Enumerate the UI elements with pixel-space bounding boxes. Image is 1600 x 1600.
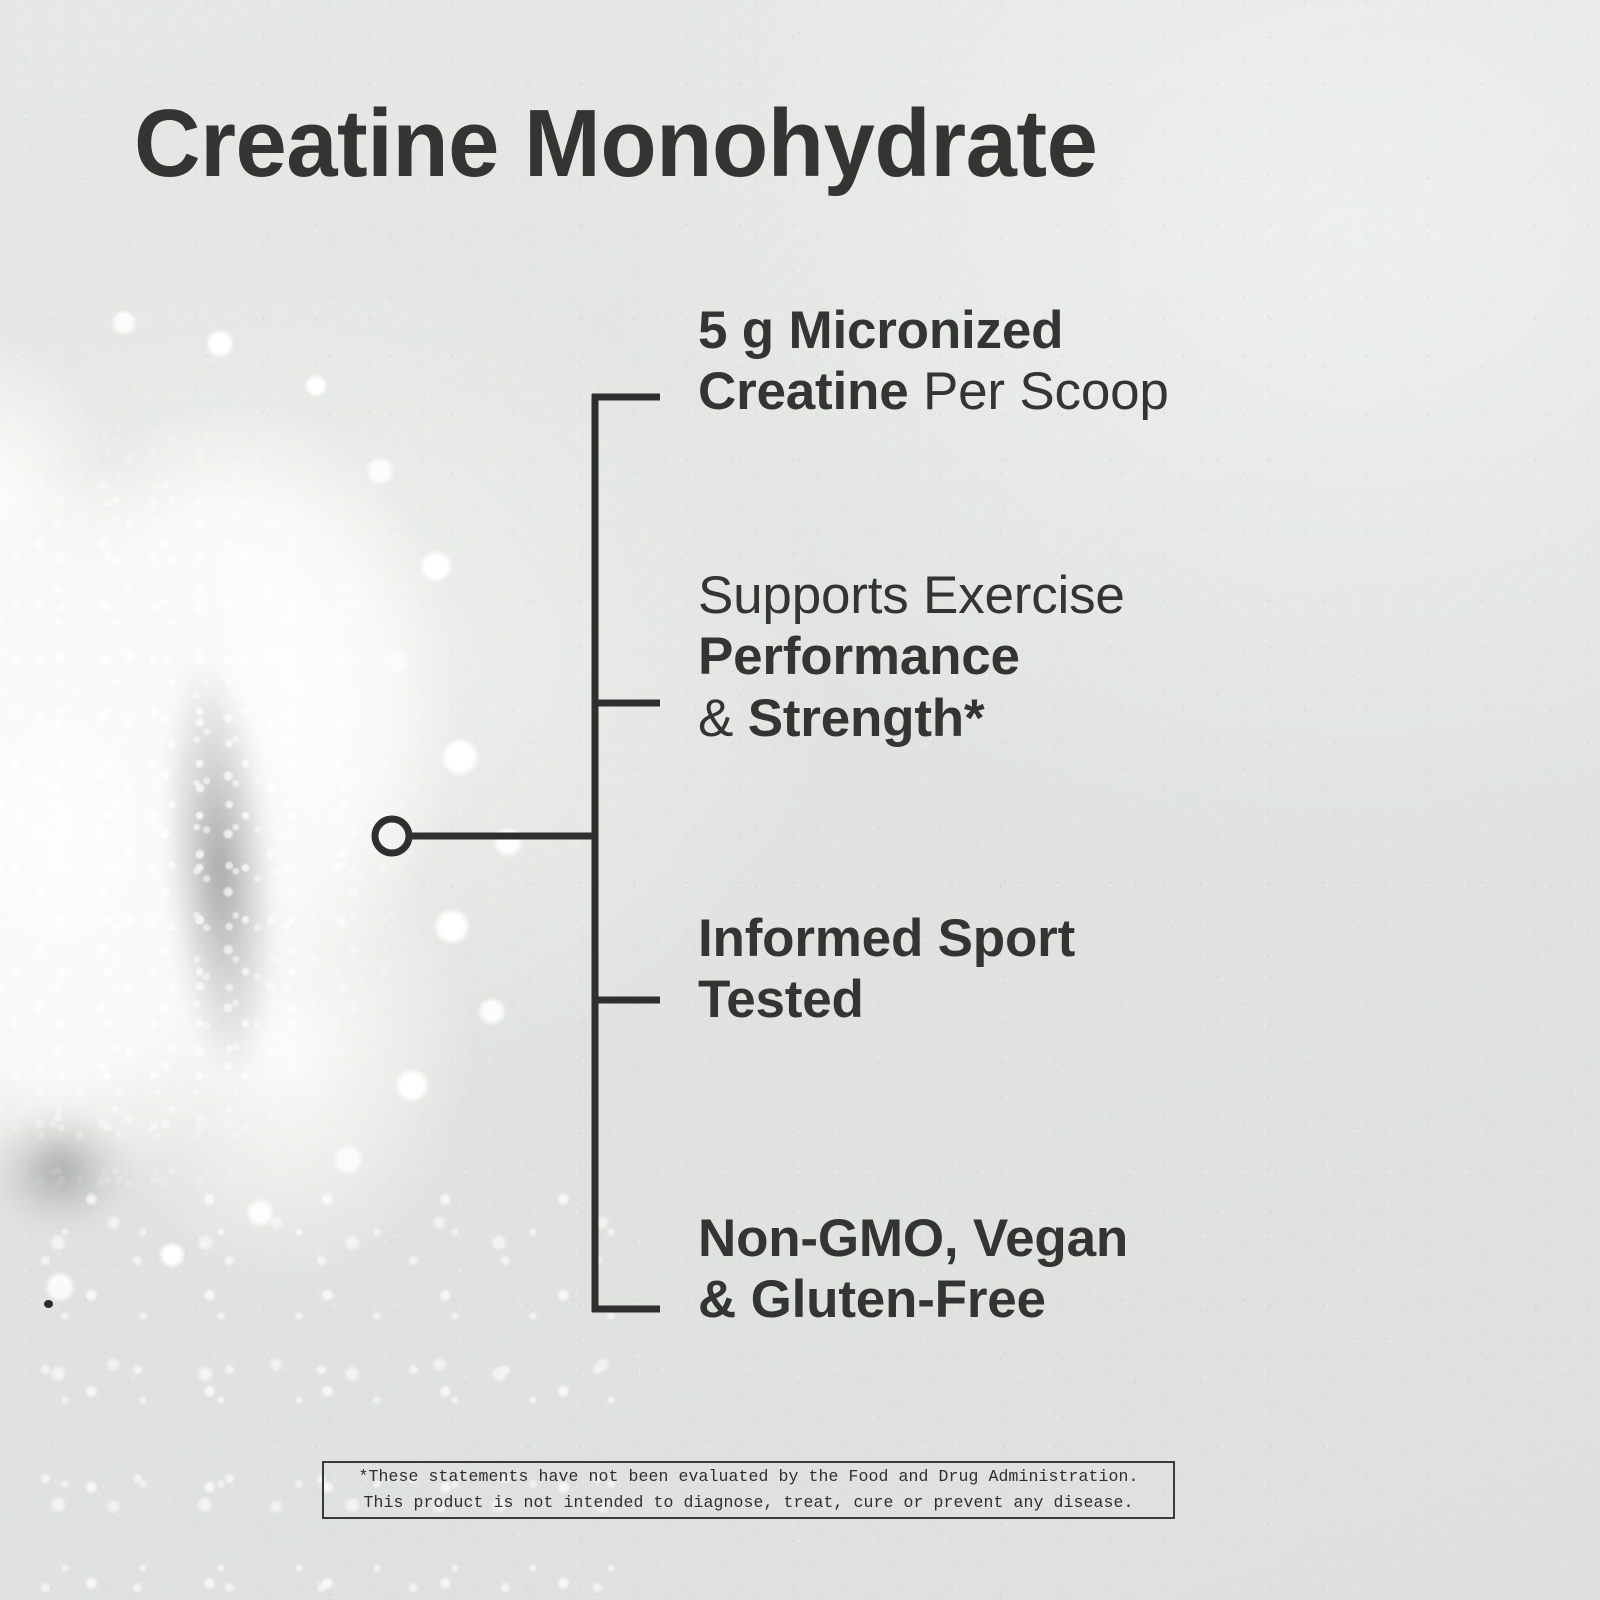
feature-text-bold: 5 g Micronized xyxy=(698,301,1063,360)
feature-creatine-per-scoop: 5 g Micronized Creatine Per Scoop xyxy=(698,300,1169,423)
page-title: Creatine Monohydrate xyxy=(134,96,1097,192)
feature-non-gmo-vegan-gluten-free: Non-GMO, Vegan & Gluten-Free xyxy=(698,1208,1128,1331)
feature-text-regular: Supports Exercise xyxy=(698,566,1125,625)
feature-text-bold: & Gluten-Free xyxy=(698,1270,1046,1329)
feature-line: Performance xyxy=(698,626,1125,687)
feature-text-bold: Informed Sport xyxy=(698,909,1075,968)
powder-scattered-specks xyxy=(0,1180,640,1600)
feature-informed-sport-tested: Informed Sport Tested xyxy=(698,908,1075,1031)
feature-line: & Gluten-Free xyxy=(698,1269,1128,1330)
product-infographic: Creatine Monohydrate 5 g Micronized Crea… xyxy=(0,0,1600,1600)
feature-text-bold: Tested xyxy=(698,970,864,1029)
feature-line: Supports Exercise xyxy=(698,565,1125,626)
fda-disclaimer-box: *These statements have not been evaluate… xyxy=(322,1461,1175,1519)
feature-line: Informed Sport xyxy=(698,908,1075,969)
disclaimer-line-one: *These statements have not been evaluate… xyxy=(324,1464,1173,1490)
feature-text-bold: Strength* xyxy=(748,689,985,748)
disclaimer-line-two: This product is not intended to diagnose… xyxy=(324,1490,1173,1516)
feature-line: & Strength* xyxy=(698,688,1125,749)
feature-text-bold: Creatine xyxy=(698,362,908,421)
powder-dark-fleck xyxy=(44,1300,53,1308)
feature-line: 5 g Micronized xyxy=(698,300,1169,361)
feature-text-regular: Per Scoop xyxy=(908,362,1168,421)
feature-text-regular: & xyxy=(698,689,748,748)
feature-line: Creatine Per Scoop xyxy=(698,361,1169,422)
feature-line: Non-GMO, Vegan xyxy=(698,1208,1128,1269)
feature-text-bold: Performance xyxy=(698,627,1020,686)
feature-line: Tested xyxy=(698,969,1075,1030)
feature-text-bold: Non-GMO, Vegan xyxy=(698,1209,1128,1268)
feature-performance-strength: Supports Exercise Performance & Strength… xyxy=(698,565,1125,749)
